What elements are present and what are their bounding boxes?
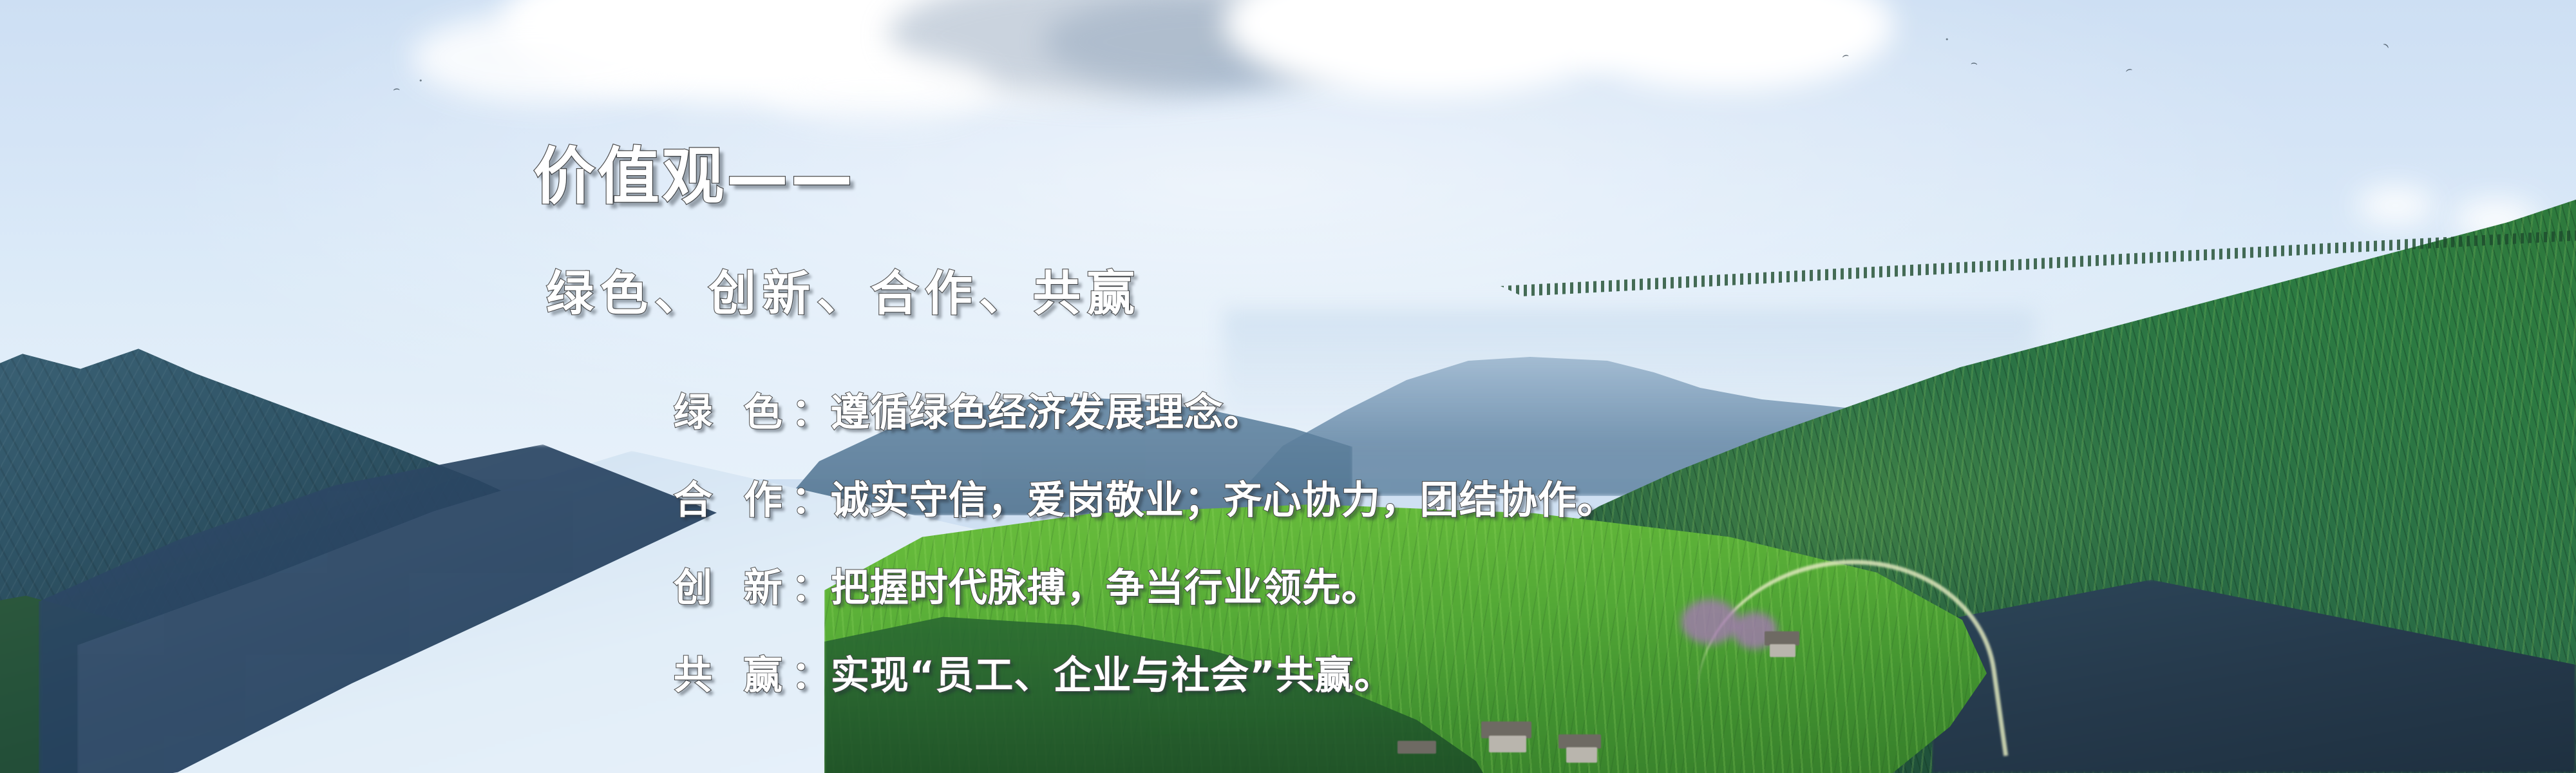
value-item: 创 新：把握时代脉搏，争当行业领先。 — [674, 557, 1616, 613]
value-item: 共 赢：实现“员工、企业与社会”共赢。 — [674, 644, 1616, 700]
value-separator: ： — [791, 566, 831, 611]
value-separator: ： — [791, 653, 831, 698]
value-text: 实现“员工、企业与社会”共赢。 — [831, 653, 1394, 698]
page-title: 价值观—— — [533, 126, 855, 216]
text-overlay: 价值观—— 绿色、创新、合作、共赢 绿 色：遵循绿色经济发展理念。 合 作：诚实… — [0, 0, 2576, 773]
value-separator: ： — [791, 478, 831, 523]
value-item: 绿 色：遵循绿色经济发展理念。 — [674, 381, 1616, 437]
value-statement-banner: ⌢ • ⌢ ⌢ ⌢ • ⌢ 价值观—— 绿色、创新、合作、共赢 绿 色：遵循绿色… — [0, 0, 2576, 773]
value-label: 绿 色 — [674, 390, 791, 435]
value-list: 绿 色：遵循绿色经济发展理念。 合 作：诚实守信，爱岗敬业；齐心协力，团结协作。… — [674, 381, 1616, 700]
value-label: 合 作 — [674, 478, 791, 523]
value-label: 创 新 — [674, 566, 791, 611]
value-text: 诚实守信，爱岗敬业；齐心协力，团结协作。 — [831, 478, 1616, 523]
value-text: 遵循绿色经济发展理念。 — [831, 390, 1263, 435]
value-item: 合 作：诚实守信，爱岗敬业；齐心协力，团结协作。 — [674, 469, 1616, 525]
subtitle: 绿色、创新、合作、共赢 — [546, 255, 1141, 324]
value-label: 共 赢 — [674, 653, 791, 698]
value-separator: ： — [791, 390, 831, 435]
value-text: 把握时代脉搏，争当行业领先。 — [831, 566, 1381, 611]
